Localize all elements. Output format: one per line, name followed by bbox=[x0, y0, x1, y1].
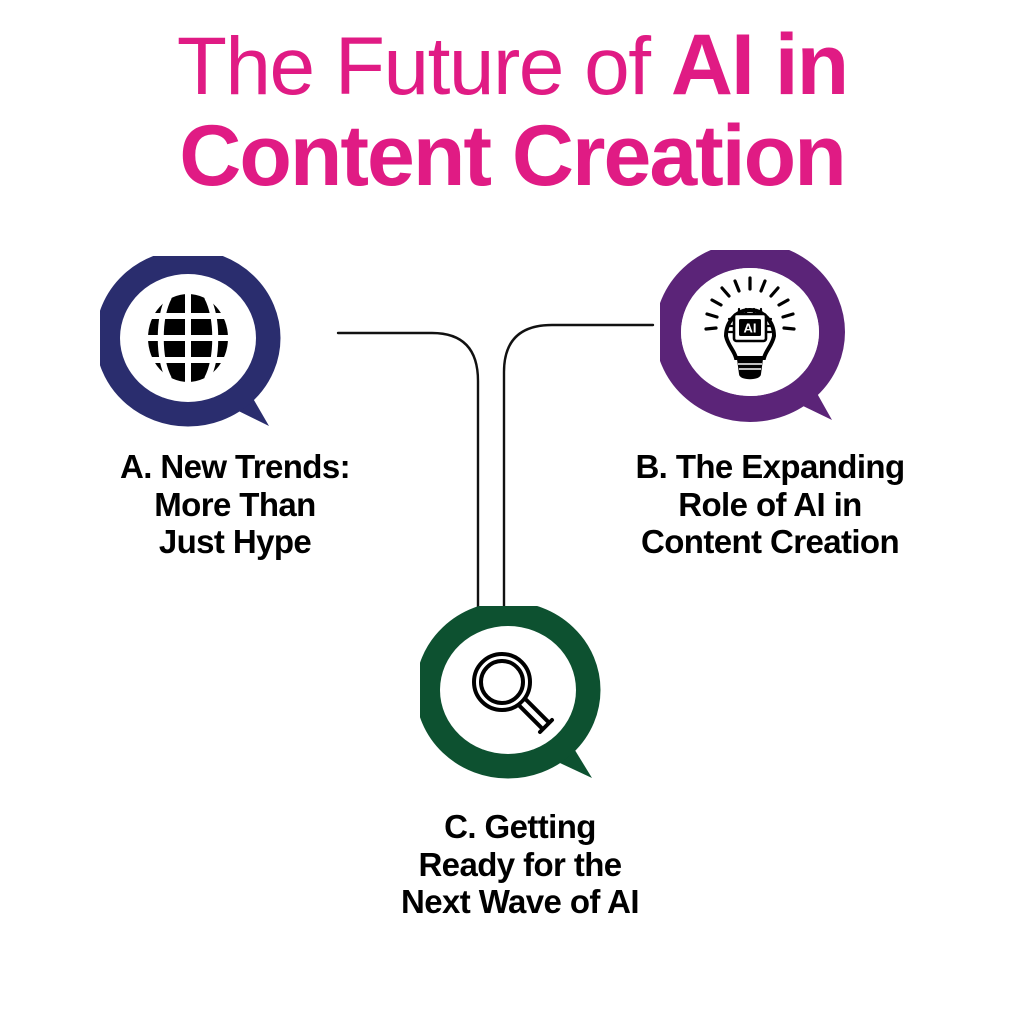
node-label-c: C. Getting Ready for the Next Wave of AI bbox=[320, 808, 720, 921]
node-label-c-line3: Next Wave of AI bbox=[320, 883, 720, 921]
title-line-2: Content Creation bbox=[0, 111, 1024, 202]
title-light-part: The Future of bbox=[177, 21, 671, 112]
node-label-b-line1: B. The Expanding bbox=[570, 448, 970, 486]
speech-bubble-purple: AI bbox=[660, 250, 850, 426]
node-label-a-line3: Just Hype bbox=[40, 523, 430, 561]
title-bold-part-2: Content Creation bbox=[179, 108, 845, 204]
page-title: The Future of AI in Content Creation bbox=[0, 20, 1024, 202]
title-line-1: The Future of AI in bbox=[0, 20, 1024, 111]
ai-chip-icon: AI bbox=[729, 309, 771, 341]
node-label-b-line3: Content Creation bbox=[570, 523, 970, 561]
node-label-b-line2: Role of AI in bbox=[570, 486, 970, 524]
infographic-canvas: The Future of AI in Content Creation bbox=[0, 0, 1024, 1024]
bubble-interior-c bbox=[440, 626, 576, 754]
node-label-c-line1: C. Getting bbox=[320, 808, 720, 846]
node-badge-c[interactable] bbox=[420, 606, 606, 784]
node-label-a-line2: More Than bbox=[40, 486, 430, 524]
node-label-c-line2: Ready for the bbox=[320, 846, 720, 884]
node-label-b: B. The Expanding Role of AI in Content C… bbox=[570, 448, 970, 561]
title-bold-part-1: AI in bbox=[671, 17, 847, 113]
node-label-a-line1: A. New Trends: bbox=[40, 448, 430, 486]
node-label-a: A. New Trends: More Than Just Hype bbox=[40, 448, 430, 561]
speech-bubble-navy bbox=[100, 256, 286, 431]
chip-label: AI bbox=[744, 321, 757, 336]
node-badge-a[interactable] bbox=[100, 256, 286, 431]
speech-bubble-green bbox=[420, 606, 606, 784]
node-badge-b[interactable]: AI bbox=[660, 250, 850, 426]
